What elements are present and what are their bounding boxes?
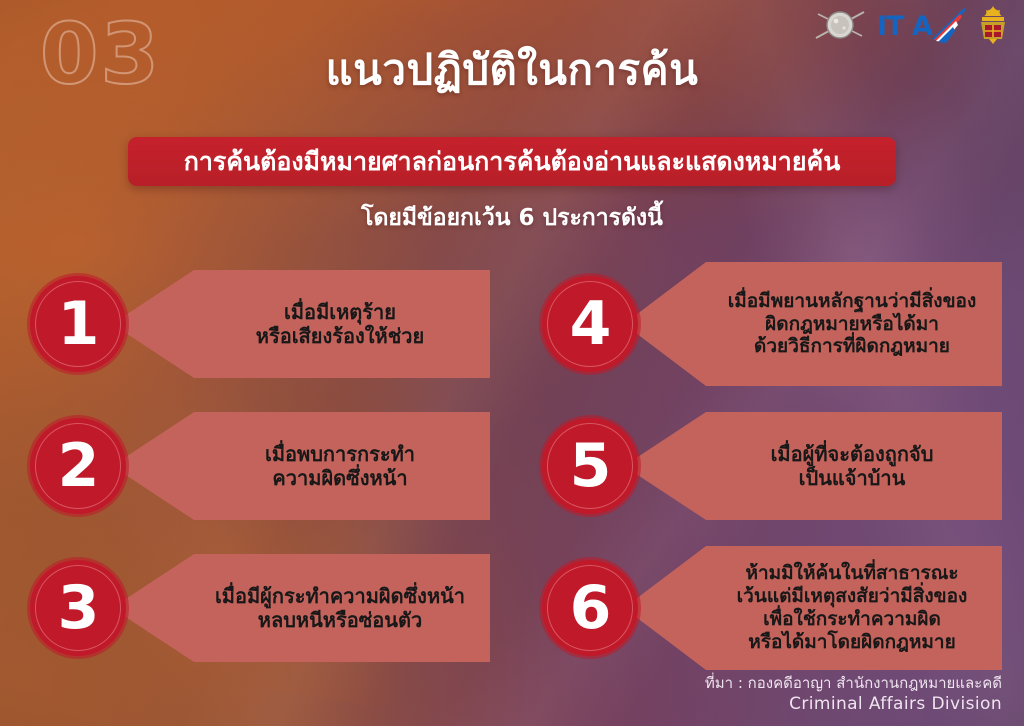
page-title: แนวปฏิบัติในการค้น bbox=[0, 37, 1024, 103]
item-arrow-6: ห้ามมิให้ค้นในที่สาธารณะ เว้นแต่มีเหตุสง… bbox=[624, 546, 1002, 670]
item-badge-3: 3 bbox=[30, 560, 126, 656]
list-item: 3 เมื่อมีผู้กระทำความผิดซึ่งหน้า หลบหนีห… bbox=[0, 540, 512, 676]
item-number-5: 5 bbox=[570, 436, 611, 496]
item-text-3: เมื่อมีผู้กระทำความผิดซึ่งหน้า หลบหนีหรื… bbox=[215, 584, 465, 633]
main-banner-text: การค้นต้องมีหมายศาลก่อนการค้นต้องอ่านและ… bbox=[184, 142, 841, 182]
list-item: 5 เมื่อผู้ที่จะต้องถูกจับ เป็นแจ้าบ้าน bbox=[512, 398, 1024, 534]
item-arrow-4: เมื่อมีพยานหลักฐานว่ามีสิ่งของ ผิดกฎหมาย… bbox=[624, 262, 1002, 386]
footer: ที่มา : กองคดีอาญา สำนักงานกฎหมายและคดี … bbox=[705, 673, 1002, 716]
item-badge-6: 6 bbox=[542, 560, 638, 656]
item-number-3: 3 bbox=[58, 578, 99, 638]
main-banner: การค้นต้องมีหมายศาลก่อนการค้นต้องอ่านและ… bbox=[128, 137, 896, 186]
list-item: 2 เมื่อพบการกระทำ ความผิดซึ่งหน้า bbox=[0, 398, 512, 534]
item-badge-5: 5 bbox=[542, 418, 638, 514]
infographic-poster: 03 IT A แนวปฏิบัติในการค้น bbox=[0, 0, 1024, 726]
list-item: 6 ห้ามมิให้ค้นในที่สาธารณะ เว้นแต่มีเหตุ… bbox=[512, 540, 1024, 676]
item-arrow-5: เมื่อผู้ที่จะต้องถูกจับ เป็นแจ้าบ้าน bbox=[624, 412, 1002, 520]
items-column-right: 4 เมื่อมีพยานหลักฐานว่ามีสิ่งของ ผิดกฎหม… bbox=[512, 256, 1024, 682]
list-item: 4 เมื่อมีพยานหลักฐานว่ามีสิ่งของ ผิดกฎหม… bbox=[512, 256, 1024, 392]
item-arrow-1: เมื่อมีเหตุร้าย หรือเสียงร้องให้ช่วย bbox=[112, 270, 490, 378]
item-arrow-3: เมื่อมีผู้กระทำความผิดซึ่งหน้า หลบหนีหรื… bbox=[112, 554, 490, 662]
item-number-4: 4 bbox=[570, 294, 611, 354]
item-text-4: เมื่อมีพยานหลักฐานว่ามีสิ่งของ ผิดกฎหมาย… bbox=[728, 290, 977, 358]
items-column-left: 1 เมื่อมีเหตุร้าย หรือเสียงร้องให้ช่วย 2… bbox=[0, 256, 512, 682]
subtitle: โดยมีข้อยกเว้น 6 ประการดังนี้ bbox=[0, 200, 1024, 236]
item-badge-4: 4 bbox=[542, 276, 638, 372]
item-number-6: 6 bbox=[570, 578, 611, 638]
item-text-1: เมื่อมีเหตุร้าย หรือเสียงร้องให้ช่วย bbox=[256, 300, 424, 349]
item-number-2: 2 bbox=[58, 436, 99, 496]
footer-source-en: Criminal Affairs Division bbox=[705, 693, 1002, 716]
item-badge-1: 1 bbox=[30, 276, 126, 372]
item-arrow-2: เมื่อพบการกระทำ ความผิดซึ่งหน้า bbox=[112, 412, 490, 520]
list-item: 1 เมื่อมีเหตุร้าย หรือเสียงร้องให้ช่วย bbox=[0, 256, 512, 392]
footer-source-th: ที่มา : กองคดีอาญา สำนักงานกฎหมายและคดี bbox=[705, 673, 1002, 693]
item-number-1: 1 bbox=[58, 294, 99, 354]
item-text-6: ห้ามมิให้ค้นในที่สาธารณะ เว้นแต่มีเหตุสง… bbox=[737, 562, 968, 653]
item-text-2: เมื่อพบการกระทำ ความผิดซึ่งหน้า bbox=[265, 442, 415, 491]
item-badge-2: 2 bbox=[30, 418, 126, 514]
item-text-5: เมื่อผู้ที่จะต้องถูกจับ เป็นแจ้าบ้าน bbox=[771, 442, 934, 491]
items-grid: 1 เมื่อมีเหตุร้าย หรือเสียงร้องให้ช่วย 2… bbox=[0, 256, 1024, 682]
